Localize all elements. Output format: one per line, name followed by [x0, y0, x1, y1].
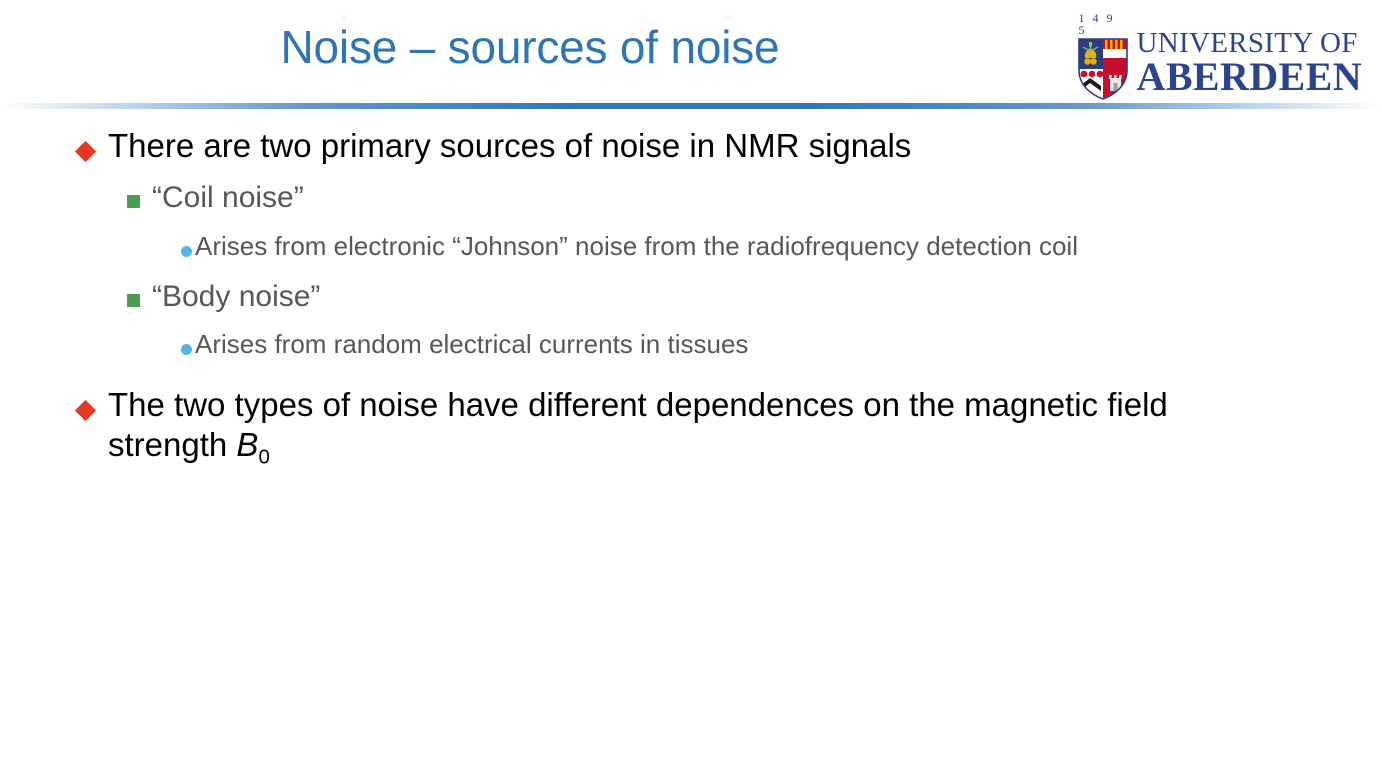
spacer: [0, 265, 1382, 279]
university-crest-icon: [1078, 38, 1128, 100]
bullet-item-level2: “Body noise”: [0, 279, 1382, 316]
crest-year-label: 1 4 9 5: [1077, 12, 1129, 36]
bullet-item-level3: Arises from random electrical currents i…: [0, 329, 1382, 361]
green-square-bullet-icon: [127, 180, 152, 211]
logo-line-aberdeen: ABERDEEN: [1137, 57, 1362, 98]
red-diamond-bullet-icon: [78, 385, 108, 422]
crest-block: 1 4 9 5: [1077, 12, 1129, 100]
bullet-text: “Coil noise”: [152, 180, 304, 217]
bullet-text: The two types of noise have different de…: [108, 385, 1228, 471]
logo-wordmark: UNIVERSITY OF ABERDEEN: [1137, 28, 1362, 100]
bullet-item-level2: “Coil noise”: [0, 180, 1382, 217]
bullet-text: There are two primary sources of noise i…: [108, 126, 911, 166]
spacer: [0, 363, 1382, 385]
slide: Noise – sources of noise 1 4 9 5: [0, 0, 1382, 780]
bullet-item-level3: Arises from electronic “Johnson” noise f…: [0, 231, 1382, 263]
spacer: [0, 219, 1382, 231]
symbol-b0-subscript: 0: [258, 446, 269, 469]
spacer: [0, 317, 1382, 329]
bullet-item-level1: The two types of noise have different de…: [0, 385, 1382, 471]
page-title: Noise – sources of noise: [0, 22, 1060, 73]
blue-dot-bullet-icon: [181, 231, 195, 261]
symbol-b0-base: B: [236, 426, 258, 463]
university-logo: 1 4 9 5: [1077, 12, 1362, 100]
slide-body: There are two primary sources of noise i…: [0, 126, 1382, 473]
bullet-text: “Body noise”: [152, 279, 320, 316]
bullet-item-level1: There are two primary sources of noise i…: [0, 126, 1382, 166]
bullet-text: Arises from random electrical currents i…: [195, 329, 748, 361]
symbol-b0: B0: [236, 426, 269, 463]
spacer: [0, 168, 1382, 180]
green-square-bullet-icon: [127, 279, 152, 310]
blue-dot-bullet-icon: [181, 329, 195, 359]
bullet-text: Arises from electronic “Johnson” noise f…: [195, 231, 1078, 263]
red-diamond-bullet-icon: [78, 126, 108, 163]
title-divider-rule: [0, 103, 1382, 109]
